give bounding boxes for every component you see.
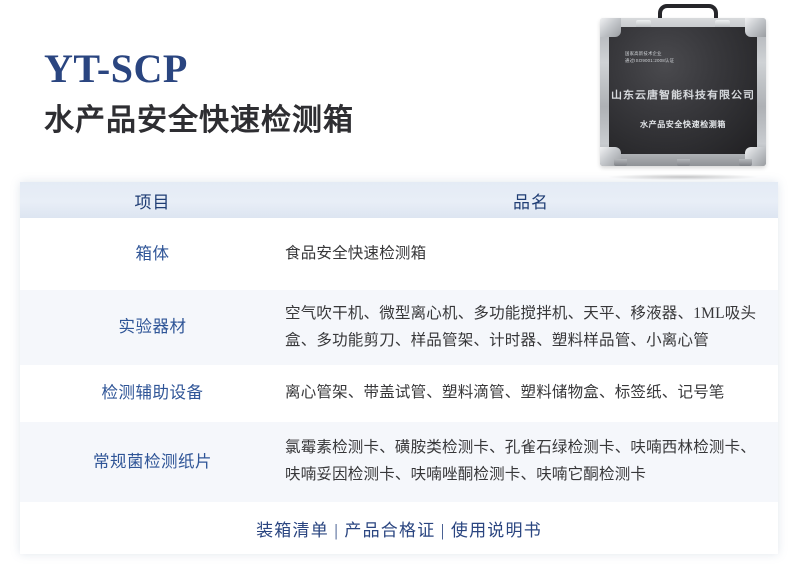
case-body: 国家高新技术企业 通过ISO9001:2008认证 山东云唐智能科技有限公司 水…	[600, 18, 766, 166]
footer-document-links[interactable]: 装箱清单 | 产品合格证 | 使用说明书	[256, 516, 542, 541]
row-label-0: 箱体	[20, 242, 285, 267]
specification-table: 项目 品名 箱体 食品安全快速检测箱 实验器材 空气吹干机、微型离心机、多功能搅…	[20, 182, 778, 554]
case-company-name: 山东云唐智能科技有限公司	[609, 88, 757, 103]
table-row: 实验器材 空气吹干机、微型离心机、多功能搅拌机、天平、移液器、1ML吸头盒、多功…	[20, 290, 778, 365]
case-drop-shadow	[608, 174, 758, 180]
row-value-2: 离心管架、带盖试管、塑料滴管、塑料储物盒、标签纸、记号笔	[285, 380, 778, 407]
row-value-3: 氯霉素检测卡、磺胺类检测卡、孔雀石绿检测卡、呋喃西林检测卡、呋喃妥因检测卡、呋喃…	[285, 435, 778, 488]
case-foot-left-icon	[614, 159, 627, 166]
header-area: YT-SCP 水产品安全快速检测箱 国家高新技术企业 通过ISO9001:200…	[0, 0, 800, 182]
product-subtitle: 水产品安全快速检测箱	[44, 104, 524, 137]
table-row: 常规菌检测纸片 氯霉素检测卡、磺胺类检测卡、孔雀石绿检测卡、呋喃西林检测卡、呋喃…	[20, 422, 778, 502]
row-label-1: 实验器材	[20, 315, 285, 340]
row-label-2: 检测辅助设备	[20, 381, 285, 406]
row-label-3: 常规菌检测纸片	[20, 450, 285, 475]
case-corner-top-right-icon	[745, 18, 766, 37]
table-row: 箱体 食品安全快速检测箱	[20, 218, 778, 290]
title-block: YT-SCP 水产品安全快速检测箱	[44, 48, 524, 137]
page-title: YT-SCP	[44, 48, 524, 90]
product-image: 国家高新技术企业 通过ISO9001:2008认证 山东云唐智能科技有限公司 水…	[592, 2, 774, 178]
case-corner-top-left-icon	[600, 18, 621, 37]
table-header-row: 项目 品名	[20, 182, 778, 218]
table-row: 检测辅助设备 离心管架、带盖试管、塑料滴管、塑料储物盒、标签纸、记号笔	[20, 365, 778, 422]
case-foot-right-icon	[739, 159, 752, 166]
row-value-1: 空气吹干机、微型离心机、多功能搅拌机、天平、移液器、1ML吸头盒、多功能剪刀、样…	[285, 301, 778, 354]
case-product-label: 水产品安全快速检测箱	[609, 119, 757, 130]
column-header-item: 项目	[20, 188, 285, 213]
case-foot-center-icon	[677, 159, 690, 166]
case-certification-text: 国家高新技术企业 通过ISO9001:2008认证	[625, 51, 674, 64]
row-value-0: 食品安全快速检测箱	[285, 241, 778, 268]
case-face: 国家高新技术企业 通过ISO9001:2008认证 山东云唐智能科技有限公司 水…	[609, 27, 757, 154]
table-footer-row: 装箱清单 | 产品合格证 | 使用说明书	[20, 502, 778, 554]
column-header-name: 品名	[285, 188, 778, 213]
